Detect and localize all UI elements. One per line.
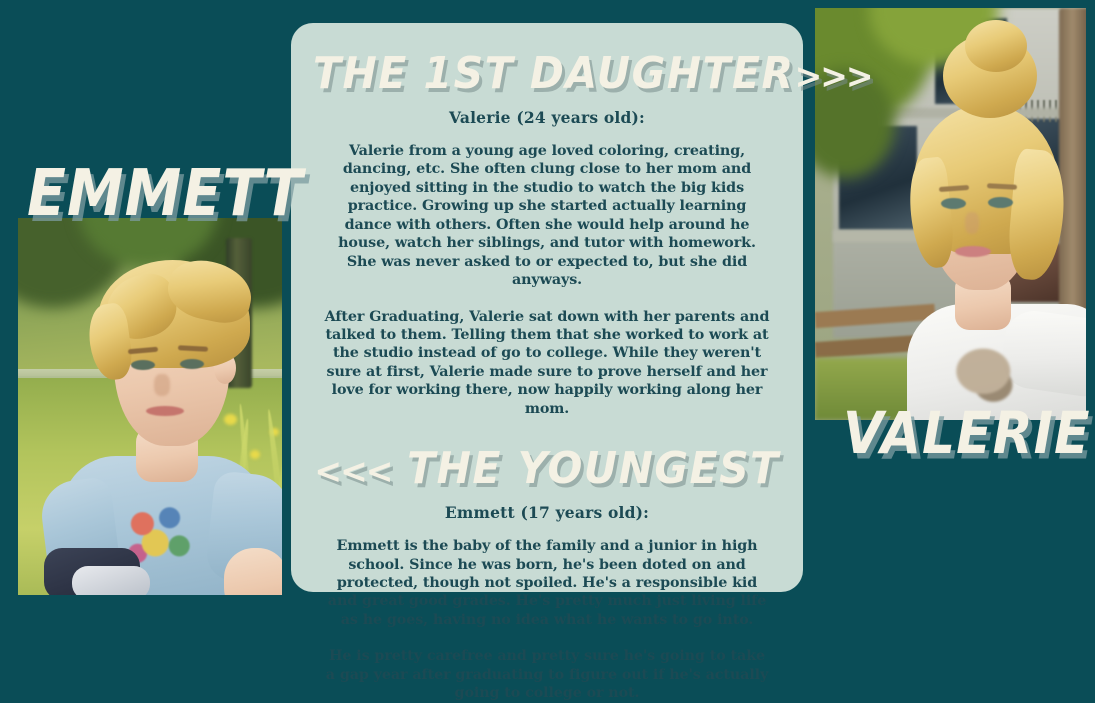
valerie-eye: [988, 197, 1013, 208]
chevron-right-icon: >>>: [795, 55, 872, 96]
name-label-emmett: EMMETT: [27, 163, 303, 227]
heading-the-youngest: <<< THE YOUNGEST: [313, 447, 781, 490]
valerie-shirt-graphic: [943, 340, 1027, 408]
heading-first-daughter: THE 1ST DAUGHTER>>>: [313, 52, 781, 95]
valerie-nose: [965, 212, 979, 234]
subhead-valerie: Valerie (24 years old):: [313, 108, 781, 127]
tree-trunk: [1059, 8, 1086, 338]
emmett-eye: [180, 359, 204, 369]
emmett-shoe: [72, 566, 150, 595]
emmett-paragraph-2: He is pretty carefree and pretty sure he…: [323, 647, 771, 702]
heading-the-youngest-text: THE YOUNGEST: [407, 443, 779, 494]
flower: [250, 450, 260, 459]
valerie-paragraph-2: After Graduating, Valerie sat down with …: [323, 308, 771, 419]
emmett-eye: [131, 360, 155, 370]
emmett-paragraph-1: Emmett is the baby of the family and a j…: [323, 537, 771, 629]
subhead-emmett: Emmett (17 years old):: [313, 503, 781, 522]
valerie-eye: [941, 198, 966, 209]
poster-canvas: Blond teenage boy in a light blue graphi…: [0, 0, 1095, 615]
emmett-scene: [18, 218, 282, 595]
name-label-valerie: VALERIE: [843, 405, 1091, 463]
chevron-left-icon: <<<: [314, 450, 391, 491]
valerie-hair-bun: [965, 20, 1027, 72]
flower: [224, 414, 237, 425]
valerie-mouth: [955, 246, 991, 257]
heading-first-daughter-text: THE 1ST DAUGHTER: [313, 48, 795, 99]
emmett-nose: [154, 374, 170, 396]
profile-text-card: THE 1ST DAUGHTER>>> Valerie (24 years ol…: [291, 23, 803, 592]
emmett-mouth: [146, 406, 184, 416]
photo-emmett: Blond teenage boy in a light blue graphi…: [18, 218, 282, 595]
valerie-paragraph-1: Valerie from a young age loved coloring,…: [323, 142, 771, 290]
emmett-arm: [224, 548, 282, 595]
